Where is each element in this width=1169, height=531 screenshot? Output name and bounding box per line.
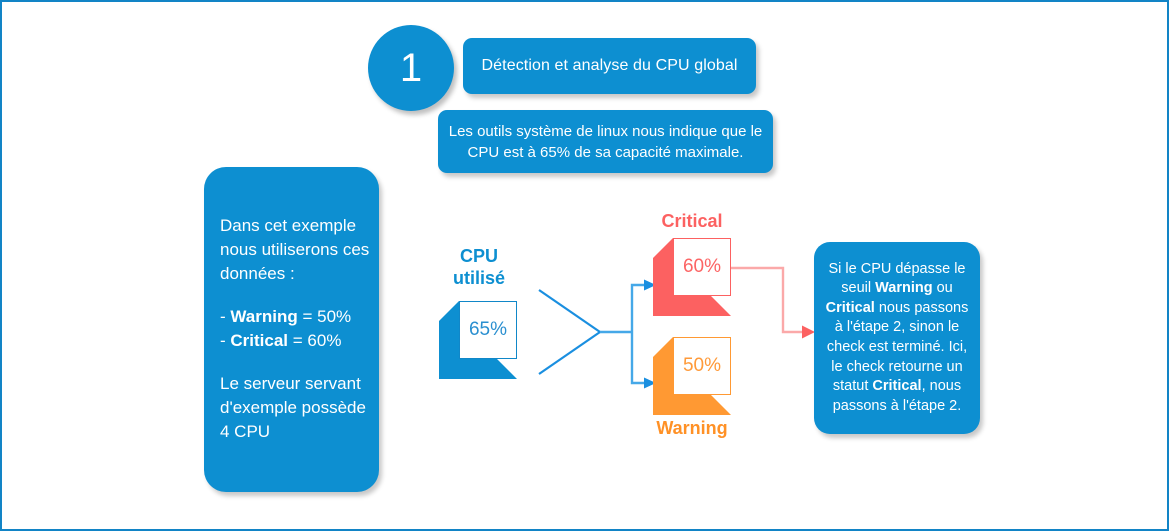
threshold-critical-prefix: - [220,331,230,350]
result-panel: Si le CPU dépasse le seuil Warning ou Cr… [814,242,980,434]
threshold-critical-line: - Critical = 60% [220,329,379,353]
threshold-warning-value: = 50% [298,307,351,326]
result-segment-2: ou [933,280,953,296]
critical-cube-face: 60% [673,238,731,296]
cpu-label-line2: utilisé [439,267,519,289]
cpu-fork-connector [539,290,632,374]
critical-value: 60% [683,256,721,278]
result-segment-5: Critical [872,378,921,394]
step-description-box: Les outils système de linux nous indique… [438,110,773,173]
cpu-shape-label: CPU utilisé [439,245,519,289]
threshold-warning-prefix: - [220,307,230,326]
step-title-box: Détection et analyse du CPU global [463,38,756,94]
warning-value: 50% [683,355,721,377]
threshold-warning-name: Warning [230,307,297,326]
example-data-panel: Dans cet exemple nous utiliserons ces do… [204,167,379,492]
cpu-cube-shape: 65% [439,301,517,379]
server-note-text: Le serveur servant d'exemple possède 4 C… [220,372,379,444]
threshold-warning-line: - Warning = 50% [220,305,379,329]
step-number: 1 [400,46,422,91]
cpu-cube-face: 65% [459,301,517,359]
critical-shape-label: Critical [642,211,742,232]
warning-cube-face: 50% [673,337,731,395]
threshold-critical-name: Critical [230,331,288,350]
diagram-canvas: 1 Détection et analyse du CPU global Les… [0,0,1169,531]
critical-to-result-connector [731,268,815,339]
step-description-text: Les outils système de linux nous indique… [448,121,763,163]
step-number-badge: 1 [368,25,454,111]
threshold-critical-value: = 60% [288,331,341,350]
warning-shape-label: Warning [642,418,742,439]
critical-cube-shape: 60% [653,238,731,316]
warning-cube-shape: 50% [653,337,731,415]
cpu-label-line1: CPU [439,245,519,267]
result-panel-text: Si le CPU dépasse le seuil Warning ou Cr… [821,260,973,417]
example-intro-text: Dans cet exemple nous utiliserons ces do… [220,214,379,286]
result-segment-3: Critical [826,300,875,316]
step-title-text: Détection et analyse du CPU global [482,57,738,75]
result-segment-1: Warning [875,280,932,296]
cpu-value: 65% [469,319,507,341]
